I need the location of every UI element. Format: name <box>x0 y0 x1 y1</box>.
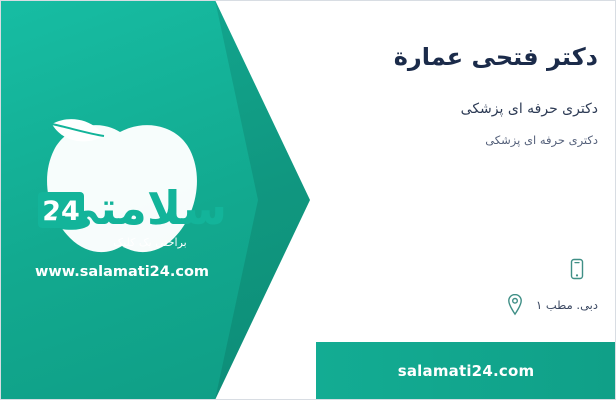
card-content: دکتر فتحی عمارة دکتری حرفه ای پزشکی دکتر… <box>320 0 616 400</box>
logo-tagline: براحتی یک کلیک <box>113 236 186 249</box>
phone-row[interactable] <box>566 256 598 282</box>
logo: 24 سلامتی براحتی یک کلیک www.salamati24.… <box>8 96 236 296</box>
doctor-name: دکتر فتحی عمارة <box>394 42 598 73</box>
map-pin-icon <box>504 292 526 318</box>
address-row[interactable]: دبی. مطب ١ <box>504 292 598 318</box>
business-card: 24 سلامتی براحتی یک کلیک www.salamati24.… <box>0 0 616 400</box>
svg-text:سلامتی: سلامتی <box>53 181 227 235</box>
logo-url[interactable]: www.salamati24.com <box>8 264 236 280</box>
footer-bar[interactable]: salamati24.com <box>316 342 616 400</box>
footer-site-url: salamati24.com <box>398 362 535 380</box>
doctor-specialty-secondary: دکتری حرفه ای پزشکی <box>485 132 598 148</box>
brand-wordmark: سلامتی <box>53 181 227 235</box>
logo-graphic: 24 سلامتی براحتی یک کلیک <box>8 96 236 271</box>
leaf-icon <box>52 119 104 141</box>
phone-icon <box>566 256 588 282</box>
doctor-specialty: دکتری حرفه ای پزشکی <box>461 100 598 120</box>
address-text: دبی. مطب ١ <box>536 298 598 312</box>
svg-text:براحتی یک کلیک: براحتی یک کلیک <box>113 236 186 249</box>
